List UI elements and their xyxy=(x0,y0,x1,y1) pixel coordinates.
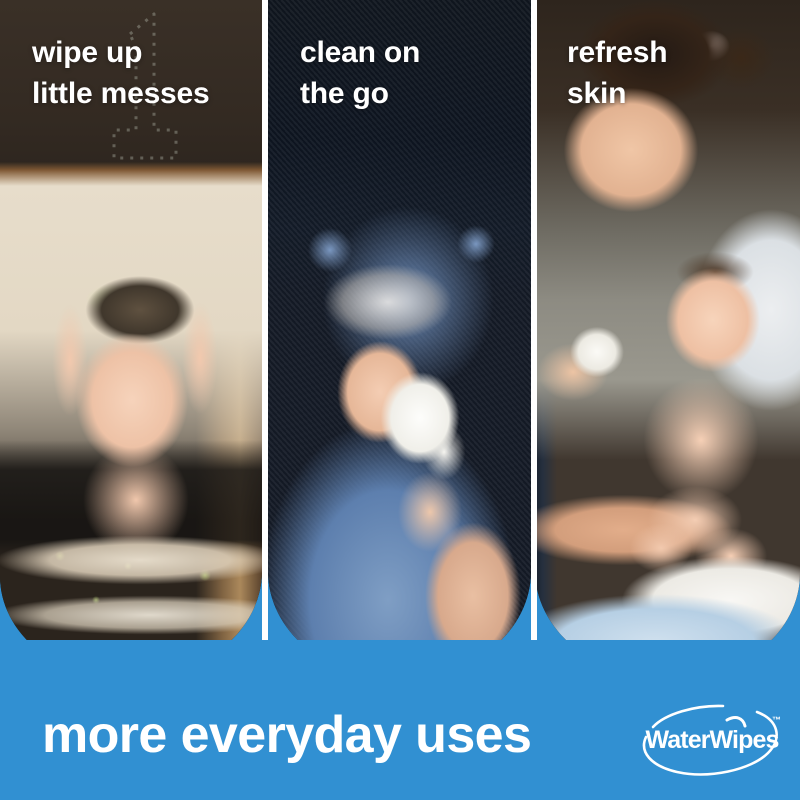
waterwipes-logo[interactable]: WaterWipes ™ xyxy=(637,696,787,782)
headline: more everyday uses xyxy=(42,705,531,765)
panel-divider-1 xyxy=(262,0,268,640)
panel-wipe-up-little-messes[interactable]: wipe up little messes xyxy=(0,0,262,680)
svg-text:WaterWipes: WaterWipes xyxy=(646,726,779,754)
trademark-symbol: ™ xyxy=(772,716,781,725)
photo-strip: wipe up little messes clean on the go re… xyxy=(0,0,800,680)
panel-caption-3: refresh skin xyxy=(567,32,667,114)
panel-caption-1: wipe up little messes xyxy=(32,32,210,114)
panel-caption-2: clean on the go xyxy=(300,32,420,114)
panel-divider-2 xyxy=(531,0,537,640)
waterwipes-logo-mark: WaterWipes xyxy=(637,696,787,782)
waterwipes-ad-creative: wipe up little messes clean on the go re… xyxy=(0,0,800,800)
